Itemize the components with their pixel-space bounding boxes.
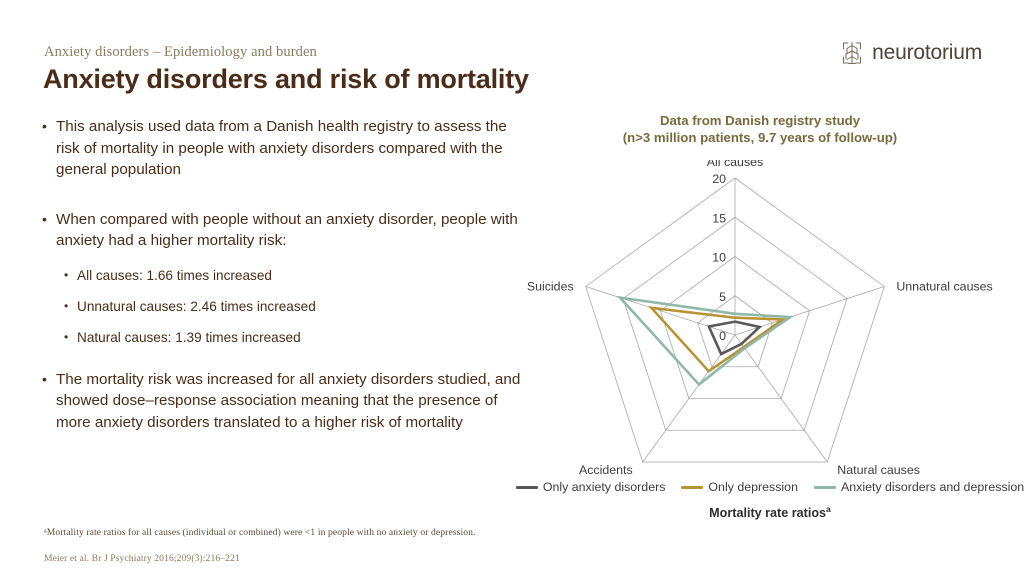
- bullet-glyph: •: [64, 328, 77, 347]
- radar-axis-label-natural-causes: Natural causes: [837, 463, 920, 477]
- bullet-glyph: •: [42, 209, 56, 252]
- radar-axis-label-suicides: Suicides: [527, 279, 574, 293]
- page-title: Anxiety disorders and risk of mortality: [43, 64, 529, 95]
- legend-item-anxiety-disorders-and-depression[interactable]: Anxiety disorders and depression: [814, 480, 1024, 494]
- sub-bullet-item-1: • All causes: 1.66 times increased: [64, 266, 522, 285]
- legend-item-only-anxiety-disorders[interactable]: Only anxiety disorders: [516, 480, 666, 494]
- radar-tick-15: 15: [712, 211, 726, 225]
- bullet-item-2: • When compared with people without an a…: [42, 209, 522, 252]
- radar-tick-20: 20: [712, 172, 726, 186]
- chart-legend: Only anxiety disordersOnly depressionAnx…: [520, 480, 1020, 494]
- bullet-glyph: •: [42, 369, 56, 434]
- legend-label: Only anxiety disorders: [543, 480, 666, 494]
- radar-axis-label-accidents: Accidents: [579, 463, 633, 477]
- chart-title: Data from Danish registry study (n>3 mil…: [530, 112, 990, 146]
- legend-swatch-icon: [516, 486, 538, 489]
- radar-axis-label-all-causes: All causes: [707, 160, 763, 169]
- brand-logo: neurotorium: [839, 40, 982, 66]
- neurotorium-tree-icon: [839, 40, 865, 66]
- chart-panel: Data from Danish registry study (n>3 mil…: [520, 112, 1020, 542]
- sub-bullet-list: • All causes: 1.66 times increased • Unn…: [64, 266, 522, 347]
- bullet-item-3: • The mortality risk was increased for a…: [42, 369, 522, 434]
- chart-axis-caption: Mortality rate ratiosa: [520, 504, 1020, 520]
- chart-title-line-1: Data from Danish registry study: [530, 112, 990, 129]
- sub-bullet-item-2: • Unnatural causes: 2.46 times increased: [64, 297, 522, 316]
- legend-swatch-icon: [814, 486, 836, 489]
- bullet-text-1: This analysis used data from a Danish he…: [56, 116, 522, 181]
- bullet-list: • This analysis used data from a Danish …: [42, 116, 522, 433]
- radar-chart: 05101520All causesUnnatural causesNatura…: [520, 160, 1020, 480]
- radar-tick-0: 0: [719, 329, 726, 343]
- footnote-citation: Meier et al. Br J Psychiatry 2016;209(3)…: [44, 553, 240, 564]
- legend-item-only-depression[interactable]: Only depression: [681, 480, 798, 494]
- bullet-glyph: •: [64, 297, 77, 316]
- legend-swatch-icon: [681, 486, 703, 489]
- bullet-spacer: [42, 197, 522, 209]
- sub-bullet-text-3: Natural causes: 1.39 times increased: [77, 328, 301, 347]
- bullet-text-2: When compared with people without an anx…: [56, 209, 522, 252]
- axis-caption-text: Mortality rate ratios: [709, 506, 826, 520]
- bullet-item-1: • This analysis used data from a Danish …: [42, 116, 522, 181]
- radar-tick-10: 10: [712, 251, 726, 265]
- bullet-text-3: The mortality risk was increased for all…: [56, 369, 522, 434]
- sub-bullet-text-2: Unnatural causes: 2.46 times increased: [77, 297, 316, 316]
- radar-axis-label-unnatural-causes: Unnatural causes: [896, 279, 992, 293]
- radar-tick-5: 5: [719, 290, 726, 304]
- sub-bullet-item-3: • Natural causes: 1.39 times increased: [64, 328, 522, 347]
- legend-label: Anxiety disorders and depression: [841, 480, 1024, 494]
- slide-eyebrow: Anxiety disorders – Epidemiology and bur…: [44, 44, 317, 61]
- legend-label: Only depression: [708, 480, 798, 494]
- slide-root: Anxiety disorders – Epidemiology and bur…: [0, 0, 1024, 576]
- footnote-note: ᵃMortality rate ratios for all causes (i…: [44, 527, 476, 538]
- chart-title-line-2: (n>3 million patients, 9.7 years of foll…: [530, 129, 990, 146]
- axis-caption-superscript: a: [826, 504, 831, 514]
- sub-bullet-text-1: All causes: 1.66 times increased: [77, 266, 272, 285]
- bullet-spacer: [42, 347, 522, 369]
- logo-wordmark: neurotorium: [872, 41, 982, 65]
- bullet-glyph: •: [42, 116, 56, 181]
- bullet-glyph: •: [64, 266, 77, 285]
